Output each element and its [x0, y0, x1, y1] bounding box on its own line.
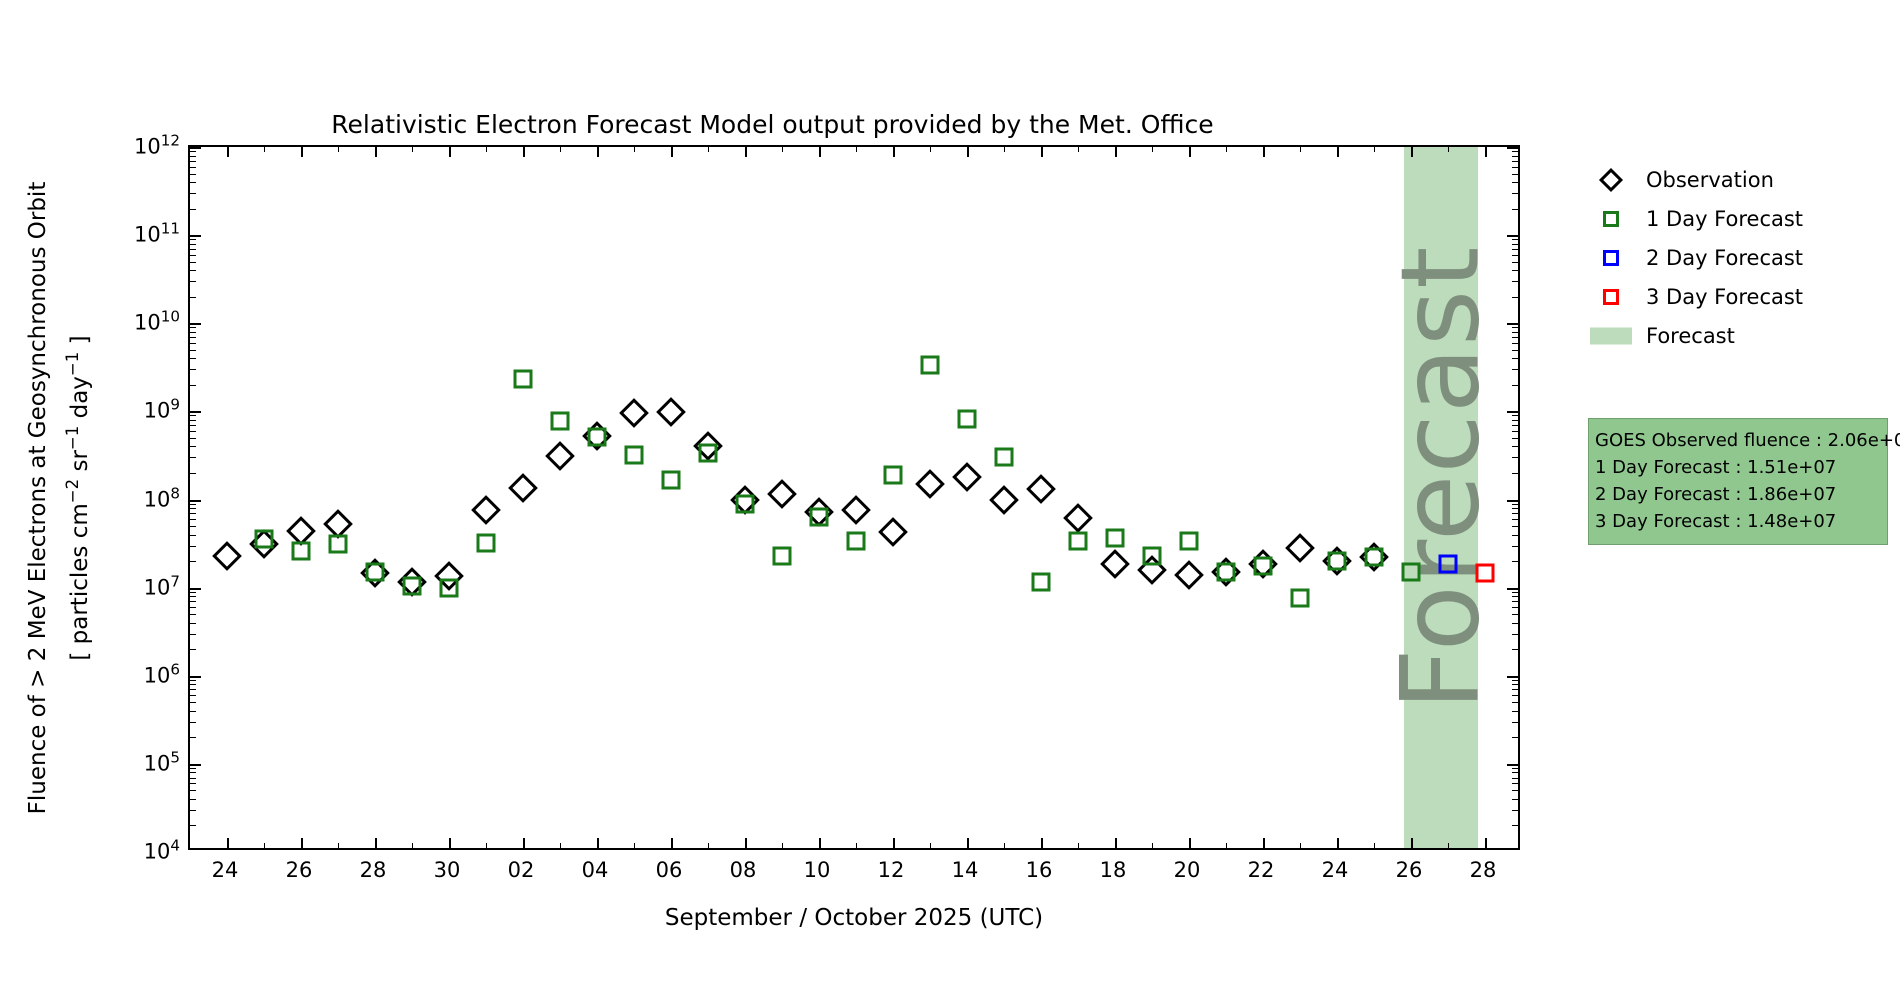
- y-tick-minor: [190, 504, 196, 505]
- y-tick-minor: [1512, 281, 1518, 282]
- x-tick-minor: [1448, 147, 1449, 152]
- y-tick-minor: [190, 174, 196, 175]
- x-tick-label: 14: [952, 858, 979, 882]
- x-tick-major: [449, 838, 451, 848]
- y-tick-label: 1012: [134, 132, 180, 159]
- observation-marker: [1026, 475, 1056, 505]
- y-tick-minor: [1512, 504, 1518, 505]
- x-tick-major: [1485, 838, 1487, 848]
- forecast-marker: [1180, 531, 1199, 550]
- x-tick-major: [1337, 147, 1339, 157]
- y-tick-minor: [1512, 244, 1518, 245]
- y-tick-label: 106: [144, 660, 180, 687]
- x-tick-label: 16: [1026, 858, 1053, 882]
- observation-marker: [212, 541, 242, 571]
- y-tick-minor: [1512, 425, 1518, 426]
- x-tick-major: [375, 838, 377, 848]
- x-tick-minor: [856, 843, 857, 848]
- x-axis-label: September / October 2025 (UTC): [188, 905, 1520, 931]
- forecast-marker: [1143, 546, 1162, 565]
- x-tick-major: [893, 838, 895, 848]
- y-tick-minor: [190, 737, 196, 738]
- x-tick-major: [1041, 838, 1043, 848]
- y-tick-minor: [190, 182, 196, 183]
- legend: Observation1 Day Forecast2 Day Forecast3…: [1588, 160, 1878, 355]
- y-tick-minor: [190, 369, 196, 370]
- y-tick-minor: [190, 156, 196, 157]
- y-tick-minor: [190, 623, 196, 624]
- y-axis-label-line-2: [ particles cm−2 sr−1 day−1 ]: [63, 335, 93, 660]
- x-tick-major: [523, 147, 525, 157]
- x-tick-major: [1189, 147, 1191, 157]
- y-tick-minor: [1512, 778, 1518, 779]
- x-tick-major: [1263, 147, 1265, 157]
- x-tick-label: 18: [1100, 858, 1127, 882]
- y-tick-minor: [190, 415, 196, 416]
- legend-item[interactable]: 3 Day Forecast: [1588, 277, 1878, 316]
- x-tick-minor: [1004, 843, 1005, 848]
- y-tick-minor: [190, 244, 196, 245]
- x-tick-major: [967, 838, 969, 848]
- y-tick-major: [1507, 500, 1518, 502]
- forecast-marker: [884, 465, 903, 484]
- y-tick-minor: [1512, 297, 1518, 298]
- y-tick-major: [1507, 323, 1518, 325]
- x-tick-minor: [1078, 843, 1079, 848]
- forecast-marker: [1254, 557, 1273, 576]
- y-tick-minor: [190, 614, 196, 615]
- y-tick-minor: [1512, 825, 1518, 826]
- y-tick-minor: [190, 601, 196, 602]
- y-tick-minor: [1512, 431, 1518, 432]
- y-tick-minor: [1512, 711, 1518, 712]
- y-tick-minor: [1512, 249, 1518, 250]
- x-tick-major: [523, 838, 525, 848]
- y-tick-minor: [1512, 689, 1518, 690]
- y-tick-minor: [1512, 255, 1518, 256]
- x-tick-label: 22: [1248, 858, 1275, 882]
- y-tick-minor: [1512, 270, 1518, 271]
- x-tick-label: 20: [1174, 858, 1201, 882]
- x-tick-minor: [1300, 843, 1301, 848]
- y-tick-minor: [1512, 156, 1518, 157]
- x-tick-label: 28: [360, 858, 387, 882]
- x-tick-major: [301, 147, 303, 157]
- observation-marker: [1174, 560, 1204, 590]
- x-tick-minor: [856, 147, 857, 152]
- square-icon: [1588, 206, 1634, 232]
- y-tick-minor: [190, 592, 196, 593]
- y-tick-major: [190, 588, 201, 590]
- y-tick-minor: [1512, 446, 1518, 447]
- x-tick-minor: [338, 147, 339, 152]
- y-tick-minor: [1512, 262, 1518, 263]
- x-tick-minor: [708, 843, 709, 848]
- forecast-marker: [1291, 588, 1310, 607]
- x-tick-label: 12: [878, 858, 905, 882]
- y-tick-minor: [1512, 239, 1518, 240]
- y-tick-minor: [1512, 151, 1518, 152]
- x-tick-label: 02: [508, 858, 535, 882]
- observation-marker: [545, 441, 575, 471]
- forecast-marker: [551, 412, 570, 431]
- x-tick-minor: [1078, 147, 1079, 152]
- legend-label: 1 Day Forecast: [1634, 207, 1803, 231]
- y-tick-minor: [1512, 535, 1518, 536]
- y-tick-major: [190, 500, 201, 502]
- y-tick-major: [190, 411, 201, 413]
- forecast-marker: [662, 471, 681, 490]
- y-tick-minor: [1512, 722, 1518, 723]
- y-tick-minor: [190, 799, 196, 800]
- forecast-marker: [1476, 563, 1495, 582]
- x-tick-major: [1411, 147, 1413, 157]
- x-tick-major: [597, 838, 599, 848]
- x-tick-minor: [1374, 843, 1375, 848]
- x-tick-minor: [264, 147, 265, 152]
- y-tick-minor: [1512, 473, 1518, 474]
- x-tick-minor: [930, 147, 931, 152]
- forecast-marker: [995, 448, 1014, 467]
- forecast-marker: [625, 445, 644, 464]
- y-tick-major: [1507, 147, 1518, 149]
- forecast-marker: [810, 508, 829, 527]
- y-tick-major: [1507, 411, 1518, 413]
- y-tick-major: [1507, 235, 1518, 237]
- forecast-marker: [588, 428, 607, 447]
- y-tick-minor: [190, 262, 196, 263]
- forecast-marker: [1328, 552, 1347, 571]
- y-tick-minor: [190, 768, 196, 769]
- observation-marker: [471, 495, 501, 525]
- y-tick-minor: [190, 473, 196, 474]
- x-tick-minor: [412, 843, 413, 848]
- title-line-1: Relativistic Electron Forecast Model out…: [0, 106, 1545, 144]
- forecast-marker: [477, 534, 496, 553]
- y-tick-minor: [190, 810, 196, 811]
- band-icon: [1588, 323, 1634, 349]
- y-tick-minor: [1512, 358, 1518, 359]
- forecast-marker: [366, 563, 385, 582]
- forecast-marker: [329, 535, 348, 554]
- x-tick-minor: [1226, 843, 1227, 848]
- y-tick-minor: [1512, 182, 1518, 183]
- forecast-value-line: 2 Day Forecast : 1.86e+07: [1595, 481, 1881, 508]
- x-tick-minor: [486, 843, 487, 848]
- x-tick-minor: [338, 843, 339, 848]
- x-tick-major: [449, 147, 451, 157]
- observation-marker: [1285, 533, 1315, 563]
- x-tick-minor: [1448, 843, 1449, 848]
- y-tick-minor: [1512, 737, 1518, 738]
- x-tick-label: 24: [1322, 858, 1349, 882]
- x-tick-minor: [708, 147, 709, 152]
- y-tick-minor: [190, 337, 196, 338]
- y-tick-minor: [1512, 457, 1518, 458]
- x-tick-minor: [1152, 843, 1153, 848]
- x-tick-major: [745, 147, 747, 157]
- observation-marker: [656, 397, 686, 427]
- y-axis-label: Fluence of > 2 MeV Electrons at Geosynch…: [0, 145, 120, 850]
- y-tick-major: [190, 764, 201, 766]
- y-tick-minor: [1512, 337, 1518, 338]
- observation-marker: [841, 495, 871, 525]
- y-tick-minor: [190, 607, 196, 608]
- x-tick-major: [819, 147, 821, 157]
- y-tick-minor: [190, 420, 196, 421]
- y-tick-minor: [190, 519, 196, 520]
- y-tick-minor: [1512, 783, 1518, 784]
- y-tick-minor: [1512, 369, 1518, 370]
- y-tick-minor: [190, 193, 196, 194]
- x-tick-minor: [560, 147, 561, 152]
- y-tick-minor: [1512, 193, 1518, 194]
- forecast-marker: [1439, 554, 1458, 573]
- legend-item[interactable]: 1 Day Forecast: [1588, 199, 1878, 238]
- observation-marker: [878, 517, 908, 547]
- forecast-marker: [958, 409, 977, 428]
- y-tick-minor: [190, 297, 196, 298]
- legend-label: Observation: [1634, 168, 1774, 192]
- y-tick-minor: [190, 680, 196, 681]
- y-tick-minor: [190, 343, 196, 344]
- y-tick-minor: [1512, 772, 1518, 773]
- y-tick-minor: [1512, 519, 1518, 520]
- y-tick-minor: [190, 535, 196, 536]
- y-tick-major: [1507, 588, 1518, 590]
- forecast-marker: [255, 529, 274, 548]
- x-tick-major: [1115, 838, 1117, 848]
- y-tick-minor: [190, 695, 196, 696]
- y-tick-minor: [190, 722, 196, 723]
- y-tick-label: 105: [144, 748, 180, 775]
- observation-marker: [619, 398, 649, 428]
- x-tick-minor: [930, 843, 931, 848]
- observation-marker: [989, 485, 1019, 515]
- y-tick-minor: [1512, 332, 1518, 333]
- x-tick-major: [1041, 147, 1043, 157]
- y-tick-minor: [190, 425, 196, 426]
- y-tick-minor: [190, 546, 196, 547]
- y-tick-minor: [190, 457, 196, 458]
- forecast-marker: [736, 494, 755, 513]
- y-tick-minor: [190, 772, 196, 773]
- y-tick-minor: [1512, 438, 1518, 439]
- x-tick-label: 28: [1470, 858, 1497, 882]
- y-tick-minor: [1512, 607, 1518, 608]
- y-tick-minor: [1512, 695, 1518, 696]
- y-tick-minor: [190, 634, 196, 635]
- x-tick-minor: [634, 147, 635, 152]
- forecast-marker: [699, 443, 718, 462]
- forecast-marker: [1365, 548, 1384, 567]
- x-tick-major: [1263, 838, 1265, 848]
- x-tick-major: [597, 147, 599, 157]
- y-tick-minor: [1512, 623, 1518, 624]
- x-tick-label: 10: [804, 858, 831, 882]
- observation-marker: [1100, 549, 1130, 579]
- y-tick-minor: [1512, 513, 1518, 514]
- observation-marker: [767, 479, 797, 509]
- y-tick-major: [190, 676, 201, 678]
- x-tick-label: 08: [730, 858, 757, 882]
- forecast-marker: [514, 370, 533, 389]
- y-tick-minor: [1512, 350, 1518, 351]
- x-tick-minor: [782, 147, 783, 152]
- y-tick-label: 1010: [134, 308, 180, 335]
- y-tick-minor: [190, 249, 196, 250]
- diamond-icon: [1588, 167, 1634, 193]
- y-tick-minor: [1512, 174, 1518, 175]
- y-tick-minor: [1512, 614, 1518, 615]
- forecast-marker: [1402, 562, 1421, 581]
- y-tick-minor: [190, 281, 196, 282]
- x-tick-major: [1337, 838, 1339, 848]
- y-tick-minor: [190, 684, 196, 685]
- legend-label: 3 Day Forecast: [1634, 285, 1803, 309]
- y-tick-label: 109: [144, 396, 180, 423]
- y-tick-minor: [190, 161, 196, 162]
- y-tick-major: [1507, 676, 1518, 678]
- x-tick-major: [967, 147, 969, 157]
- y-tick-major: [1507, 764, 1518, 766]
- x-tick-label: 26: [1396, 858, 1423, 882]
- y-axis-label-line-1: Fluence of > 2 MeV Electrons at Geosynch…: [25, 181, 51, 814]
- y-tick-minor: [190, 270, 196, 271]
- y-tick-minor: [190, 649, 196, 650]
- x-tick-major: [227, 838, 229, 848]
- x-tick-major: [301, 838, 303, 848]
- forecast-marker: [403, 576, 422, 595]
- y-tick-minor: [1512, 420, 1518, 421]
- x-tick-major: [671, 147, 673, 157]
- y-tick-minor: [1512, 546, 1518, 547]
- y-tick-minor: [1512, 799, 1518, 800]
- x-tick-minor: [1152, 147, 1153, 152]
- y-tick-minor: [1512, 526, 1518, 527]
- y-tick-minor: [190, 255, 196, 256]
- x-tick-major: [671, 838, 673, 848]
- x-tick-minor: [264, 843, 265, 848]
- y-tick-minor: [190, 702, 196, 703]
- forecast-marker: [1032, 573, 1051, 592]
- y-tick-minor: [1512, 161, 1518, 162]
- y-tick-minor: [1512, 601, 1518, 602]
- y-tick-minor: [1512, 508, 1518, 509]
- x-tick-label: 24: [212, 858, 239, 882]
- x-tick-major: [1485, 147, 1487, 157]
- y-tick-minor: [190, 209, 196, 210]
- y-tick-minor: [1512, 343, 1518, 344]
- y-tick-minor: [190, 526, 196, 527]
- forecast-marker: [921, 355, 940, 374]
- y-tick-minor: [190, 778, 196, 779]
- y-tick-minor: [1512, 561, 1518, 562]
- y-tick-minor: [190, 711, 196, 712]
- forecast-marker: [1069, 531, 1088, 550]
- legend-item[interactable]: 2 Day Forecast: [1588, 238, 1878, 277]
- y-tick-minor: [190, 438, 196, 439]
- y-tick-minor: [190, 239, 196, 240]
- y-tick-minor: [190, 561, 196, 562]
- forecast-watermark-text: Forecast: [1378, 246, 1503, 711]
- observed-fluence-line: GOES Observed fluence : 2.06e+07: [1595, 427, 1881, 454]
- legend-item[interactable]: Observation: [1588, 160, 1878, 199]
- y-tick-minor: [1512, 702, 1518, 703]
- y-tick-minor: [1512, 810, 1518, 811]
- x-tick-minor: [412, 147, 413, 152]
- x-tick-minor: [634, 843, 635, 848]
- forecast-value-line: 3 Day Forecast : 1.48e+07: [1595, 508, 1881, 535]
- y-tick-minor: [190, 825, 196, 826]
- y-tick-minor: [190, 783, 196, 784]
- observation-marker: [952, 462, 982, 492]
- x-tick-major: [1115, 147, 1117, 157]
- y-tick-minor: [190, 358, 196, 359]
- y-tick-minor: [190, 350, 196, 351]
- x-tick-minor: [1004, 147, 1005, 152]
- y-tick-minor: [190, 508, 196, 509]
- x-tick-major: [1189, 838, 1191, 848]
- y-tick-major: [190, 323, 201, 325]
- y-tick-minor: [190, 431, 196, 432]
- y-tick-minor: [1512, 768, 1518, 769]
- x-tick-minor: [560, 843, 561, 848]
- y-tick-minor: [1512, 385, 1518, 386]
- legend-item[interactable]: Forecast: [1588, 316, 1878, 355]
- x-tick-label: 30: [434, 858, 461, 882]
- plot-area: Forecast: [188, 145, 1520, 850]
- x-tick-label: 04: [582, 858, 609, 882]
- y-tick-minor: [190, 332, 196, 333]
- y-tick-minor: [1512, 684, 1518, 685]
- y-tick-minor: [1512, 680, 1518, 681]
- forecast-marker: [847, 531, 866, 550]
- legend-label: 2 Day Forecast: [1634, 246, 1803, 270]
- y-tick-minor: [1512, 649, 1518, 650]
- y-tick-label: 1011: [134, 220, 180, 247]
- y-tick-minor: [190, 446, 196, 447]
- forecast-marker: [292, 542, 311, 561]
- x-tick-minor: [1226, 147, 1227, 152]
- square-icon: [1588, 284, 1634, 310]
- x-tick-major: [745, 838, 747, 848]
- x-tick-minor: [1300, 147, 1301, 152]
- forecast-summary-box: GOES Observed fluence : 2.06e+071 Day Fo…: [1588, 418, 1888, 545]
- y-tick-label: 104: [144, 837, 180, 864]
- x-tick-major: [375, 147, 377, 157]
- y-tick-minor: [1512, 634, 1518, 635]
- x-tick-major: [819, 838, 821, 848]
- x-tick-major: [893, 147, 895, 157]
- y-tick-minor: [190, 790, 196, 791]
- y-tick-minor: [190, 596, 196, 597]
- y-tick-major: [190, 147, 201, 149]
- y-tick-minor: [190, 167, 196, 168]
- observation-marker: [1063, 503, 1093, 533]
- y-tick-label: 107: [144, 572, 180, 599]
- y-tick-minor: [1512, 167, 1518, 168]
- square-icon: [1588, 245, 1634, 271]
- x-tick-label: 26: [286, 858, 313, 882]
- y-tick-label: 108: [144, 484, 180, 511]
- observation-marker: [915, 469, 945, 499]
- y-tick-minor: [1512, 327, 1518, 328]
- x-tick-major: [227, 147, 229, 157]
- observation-marker: [508, 473, 538, 503]
- y-tick-major: [190, 235, 201, 237]
- forecast-marker: [1106, 528, 1125, 547]
